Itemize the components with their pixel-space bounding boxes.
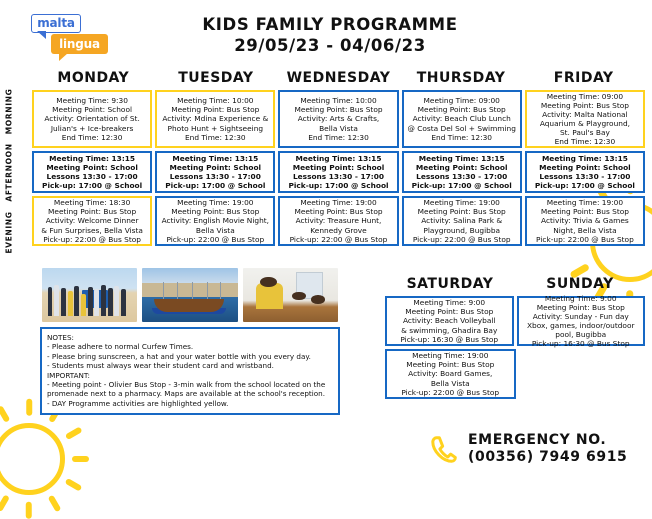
sun-ray [65, 478, 82, 491]
schedule-cell-line: End Time: 12:30 [529, 137, 641, 146]
schedule-cell-line: Meeting Point: Bus Stop [389, 360, 512, 369]
schedule-cell-line: Lessons 13:30 - 17:00 [282, 172, 394, 181]
schedule-cell-line: Activity: Salina Park & [406, 216, 518, 225]
notes-box: NOTES:- Please adhere to normal Curfew T… [40, 327, 340, 415]
schedule-cell-line: & swimming, Ghadira Bay [389, 326, 510, 335]
schedule-cell-line: Activity: Sunday - Fun day [521, 312, 642, 321]
schedule-cell-line: Xbox, games, indoor/outdoor [521, 321, 642, 330]
schedule-cell-line: Aquarium & Playground, [529, 119, 641, 128]
schedule-cell-line: End Time: 12:30 [159, 133, 271, 142]
schedule-row-evening: Meeting Time: 18:30Meeting Point: Bus St… [32, 196, 645, 246]
schedule-cell-line: Activity: Beach Volleyball [389, 316, 510, 325]
schedule-cell-line: Pick-up: 22:00 @ Bus Stop [406, 235, 518, 244]
schedule-cell-line: Playground, Bugibba [406, 226, 518, 235]
schedule-cell: Meeting Time: 13:15Meeting Point: School… [525, 151, 645, 193]
schedule-cell-line: Meeting Point: Bus Stop [282, 105, 394, 114]
schedule-cell-line: Activity: Arts & Crafts, [282, 114, 394, 123]
schedule-cell-line: Meeting Time: 18:30 [36, 198, 148, 207]
schedule-cell-line: Meeting Point: School [282, 163, 394, 172]
schedule-cell-line: Meeting Point: Bus Stop [529, 101, 641, 110]
weekend-schedule-grid: Meeting Time: 9:00Meeting Point: Bus Sto… [385, 296, 645, 402]
schedule-cell-line: Meeting Time: 10:00 [159, 96, 271, 105]
schedule-cell: Meeting Time: 9:00Meeting Point: Bus Sto… [385, 296, 514, 346]
schedule-cell-line: Meeting Time: 19:00 [389, 351, 512, 360]
schedule-cell-line: Pick-up: 17:00 @ School [36, 181, 148, 190]
schedule-cell: Meeting Time: 19:00Meeting Point: Bus St… [155, 196, 275, 246]
schedule-cell: Meeting Time: 18:30Meeting Point: Bus St… [32, 196, 152, 246]
schedule-cell-line: Meeting Time: 9:00 [521, 294, 642, 303]
page-title-block: KIDS FAMILY PROGRAMME 29/05/23 - 04/06/2… [150, 14, 510, 56]
schedule-cell-line: Meeting Time: 09:00 [529, 92, 641, 101]
schedule-cell-line: Lessons 13:30 - 17:00 [36, 172, 148, 181]
schedule-cell-line: Activity: Board Games, [389, 369, 512, 378]
classroom-photo [243, 268, 338, 322]
schedule-cell-line: Pick-up: 16:30 @ Bus Stop [389, 335, 510, 344]
schedule-cell-line: Pick-up: 17:00 @ School [529, 181, 641, 190]
schedule-cell-line: Lessons 13:30 - 17:00 [529, 172, 641, 181]
schedule-cell-line: Meeting Time: 13:15 [36, 154, 148, 163]
beach-group-photo [42, 268, 137, 322]
schedule-cell-line: Pick-up: 22:00 @ Bus Stop [389, 388, 512, 397]
schedule-cell-line: Meeting Point: Bus Stop [159, 207, 271, 216]
schedule-cell-line: Bella Vista [389, 379, 512, 388]
schedule-cell-line: Pick-up: 22:00 @ Bus Stop [159, 235, 271, 244]
period-label-afternoon: AFTERNOON [5, 142, 14, 204]
note-line: promenade next to a pharmacy. Maps are a… [47, 389, 333, 398]
schedule-cell-line: Meeting Time: 09:00 [406, 96, 518, 105]
note-line: - Please adhere to normal Curfew Times. [47, 342, 333, 351]
schedule-cell-line: Bella Vista [159, 226, 271, 235]
note-line: - Please bring sunscreen, a hat and your… [47, 352, 333, 361]
schedule-cell-line: Meeting Point: School [159, 163, 271, 172]
weekend-header-row: SATURDAY SUNDAY [385, 276, 645, 292]
schedule-cell-line: Meeting Point: Bus Stop [529, 207, 641, 216]
schedule-cell-line: Meeting Point: School [36, 105, 148, 114]
schedule-cell-line: Meeting Point: Bus Stop [36, 207, 148, 216]
emergency-label: EMERGENCY NO. [468, 432, 627, 449]
schedule-cell-line: Meeting Time: 13:15 [406, 154, 518, 163]
note-line: - Meeting point - Olivier Bus Stop - 3-m… [47, 380, 333, 389]
schedule-cell-line: Meeting Point: School [406, 163, 518, 172]
schedule-cell-line: Meeting Time: 9:30 [36, 96, 148, 105]
logo-lingua-bubble: lingua [51, 34, 108, 54]
schedule-cell-line: Meeting Point: Bus Stop [159, 105, 271, 114]
sun-icon [0, 423, 65, 495]
schedule-cell-line: Meeting Time: 19:00 [406, 198, 518, 207]
schedule-cell-line: Pick-up: 17:00 @ School [406, 181, 518, 190]
schedule-cell-line: Photo Hunt + Sightseeing [159, 124, 271, 133]
sun-ray [72, 456, 89, 462]
schedule-cell-line: Meeting Time: 19:00 [159, 198, 271, 207]
schedule-cell-line: Pick-up: 22:00 @ Bus Stop [36, 235, 148, 244]
schedule-cell: Meeting Time: 19:00Meeting Point: Bus St… [525, 196, 645, 246]
schedule-cell-line: Activity: Beach Club Lunch [406, 114, 518, 123]
schedule-cell: Meeting Time: 9:00Meeting Point: Bus Sto… [517, 296, 646, 346]
schedule-cell-line: Meeting Point: Bus Stop [521, 303, 642, 312]
schedule-cell-line: Meeting Point: Bus Stop [282, 207, 394, 216]
schedule-cell-line: Meeting Point: School [36, 163, 148, 172]
schedule-cell-line: Activity: Trivia & Games [529, 216, 641, 225]
sun-bottom-left-decoration [0, 400, 88, 518]
schedule-cell-line: Meeting Point: Bus Stop [406, 207, 518, 216]
schedule-cell-line: Meeting Time: 13:15 [529, 154, 641, 163]
schedule-cell: Meeting Time: 13:15Meeting Point: School… [402, 151, 522, 193]
note-line: - Students must always wear their studen… [47, 361, 333, 370]
harbour-boat-photo [142, 268, 237, 322]
note-line: - DAY Programme activities are highlight… [47, 399, 333, 408]
schedule-cell-line: Meeting Time: 9:00 [389, 298, 510, 307]
date-range: 29/05/23 - 04/06/23 [150, 35, 510, 56]
schedule-cell-line: @ Costa Del Sol + Swimming [406, 124, 518, 133]
schedule-cell: Meeting Time: 19:00Meeting Point: Bus St… [402, 196, 522, 246]
schedule-cell: Meeting Time: 13:15Meeting Point: School… [278, 151, 398, 193]
weekday-header-tuesday: TUESDAY [155, 70, 278, 86]
schedule-cell-line: Pick-up: 17:00 @ School [282, 181, 394, 190]
schedule-cell-line: Night, Bella Vista [529, 226, 641, 235]
schedule-cell: Meeting Time: 13:15Meeting Point: School… [155, 151, 275, 193]
schedule-cell: Meeting Time: 09:00Meeting Point: Bus St… [525, 90, 645, 148]
schedule-cell-line: Lessons 13:30 - 17:00 [159, 172, 271, 181]
schedule-cell: Meeting Time: 10:00Meeting Point: Bus St… [155, 90, 275, 148]
schedule-cell-line: Julian's + Ice-breakers [36, 124, 148, 133]
sun-ray [26, 399, 32, 416]
schedule-cell-line: Meeting Point: School [529, 163, 641, 172]
phone-icon [430, 434, 460, 464]
schedule-cell-line: End Time: 12:30 [282, 133, 394, 142]
weekday-schedule-grid: Meeting Time: 9:30Meeting Point: SchoolA… [32, 90, 645, 249]
schedule-cell-line: St. Paul's Bay [529, 128, 641, 137]
schedule-cell-line: Meeting Point: Bus Stop [406, 105, 518, 114]
weekday-header-monday: MONDAY [32, 70, 155, 86]
schedule-cell-line: Meeting Time: 19:00 [529, 198, 641, 207]
sun-ray [65, 427, 82, 440]
schedule-cell: Meeting Time: 13:15Meeting Point: School… [32, 151, 152, 193]
page-title: KIDS FAMILY PROGRAMME [150, 14, 510, 35]
note-line: IMPORTANT: [47, 371, 333, 380]
schedule-row-morning: Meeting Time: 9:30Meeting Point: SchoolA… [32, 90, 645, 148]
schedule-cell-line: Kennedy Grove [282, 226, 394, 235]
schedule-cell-line: End Time: 12:30 [36, 133, 148, 142]
sun-ray [0, 406, 10, 423]
weekend-row-evening: Meeting Time: 19:00Meeting Point: Bus St… [385, 349, 645, 399]
weekday-header-sunday: SUNDAY [515, 276, 645, 292]
schedule-cell-line: Meeting Point: Bus Stop [389, 307, 510, 316]
emergency-text: EMERGENCY NO. (00356) 7949 6915 [468, 432, 627, 466]
note-line: NOTES: [47, 333, 333, 342]
schedule-cell-line: Activity: Orientation of St. [36, 114, 148, 123]
photo-strip [42, 268, 338, 322]
schedule-row-afternoon: Meeting Time: 13:15Meeting Point: School… [32, 151, 645, 193]
schedule-cell-line: Pick-up: 16:30 @ Bus Stop [521, 339, 642, 348]
schedule-cell-line: Meeting Time: 13:15 [282, 154, 394, 163]
weekday-header-wednesday: WEDNESDAY [277, 70, 400, 86]
weekday-header-thursday: THURSDAY [400, 70, 523, 86]
schedule-cell-line: Bella Vista [282, 124, 394, 133]
schedule-cell-line: Meeting Time: 10:00 [282, 96, 394, 105]
weekday-header-saturday: SATURDAY [385, 276, 515, 292]
period-label-morning: MORNING [5, 81, 14, 143]
schedule-cell: Meeting Time: 19:00Meeting Point: Bus St… [385, 349, 516, 399]
schedule-cell-line: End Time: 12:30 [406, 133, 518, 142]
schedule-cell: Meeting Time: 09:00Meeting Point: Bus St… [402, 90, 522, 148]
maltalingua-logo: malta lingua [31, 14, 115, 58]
schedule-cell: Meeting Time: 19:00Meeting Point: Bus St… [278, 196, 398, 246]
schedule-cell: Meeting Time: 9:30Meeting Point: SchoolA… [32, 90, 152, 148]
schedule-cell-line: Lessons 13:30 - 17:00 [406, 172, 518, 181]
schedule-cell-line: Activity: Mdina Experience & [159, 114, 271, 123]
schedule-cell-line: Activity: Malta National [529, 110, 641, 119]
schedule-cell-line: Activity: Welcome Dinner [36, 216, 148, 225]
schedule-cell-line: Pick-up: 22:00 @ Bus Stop [282, 235, 394, 244]
schedule-cell-line: Activity: English Movie Night, [159, 216, 271, 225]
schedule-cell-line: Activity: Treasure Hunt, [282, 216, 394, 225]
schedule-cell-line: Pick-up: 17:00 @ School [159, 181, 271, 190]
sun-ray [26, 502, 32, 519]
schedule-cell-line: Meeting Time: 19:00 [282, 198, 394, 207]
harbour-town [142, 283, 237, 297]
weekday-header-row: MONDAY TUESDAY WEDNESDAY THURSDAY FRIDAY [32, 70, 645, 86]
schedule-cell [519, 349, 646, 399]
emergency-contact-block: EMERGENCY NO. (00356) 7949 6915 [430, 432, 645, 466]
schedule-cell-line: Pick-up: 22:00 @ Bus Stop [529, 235, 641, 244]
boat-hull [154, 299, 225, 312]
schedule-cell-line: & Fun Surprises, Bella Vista [36, 226, 148, 235]
weekday-header-friday: FRIDAY [522, 70, 645, 86]
schedule-cell-line: Meeting Time: 13:15 [159, 154, 271, 163]
schedule-cell: Meeting Time: 10:00Meeting Point: Bus St… [278, 90, 398, 148]
schedule-cell-line: pool, Bugibba [521, 330, 642, 339]
logo-malta-bubble: malta [31, 14, 81, 33]
emergency-number: (00356) 7949 6915 [468, 449, 627, 466]
weekend-row-day: Meeting Time: 9:00Meeting Point: Bus Sto… [385, 296, 645, 346]
period-label-evening: EVENING [5, 202, 14, 264]
